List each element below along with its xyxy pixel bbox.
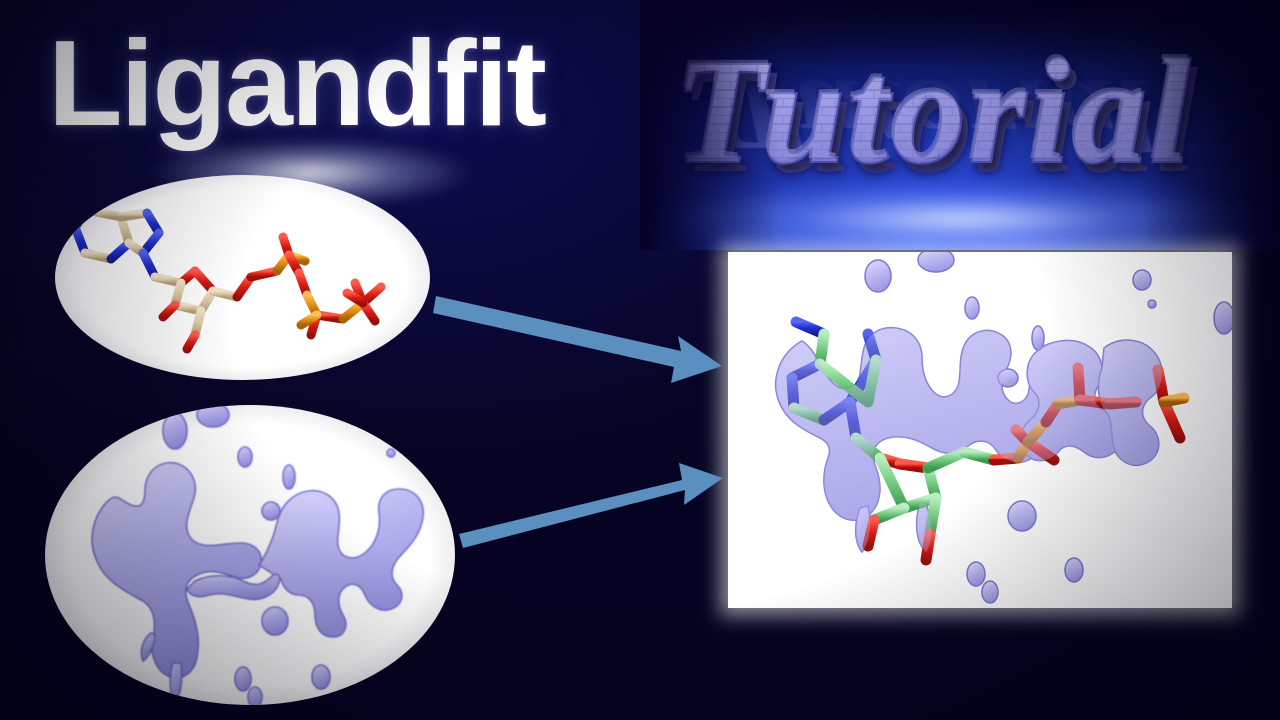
slide-canvas: Tutorial: [0, 0, 1280, 720]
slide-vignette: [0, 0, 1280, 720]
